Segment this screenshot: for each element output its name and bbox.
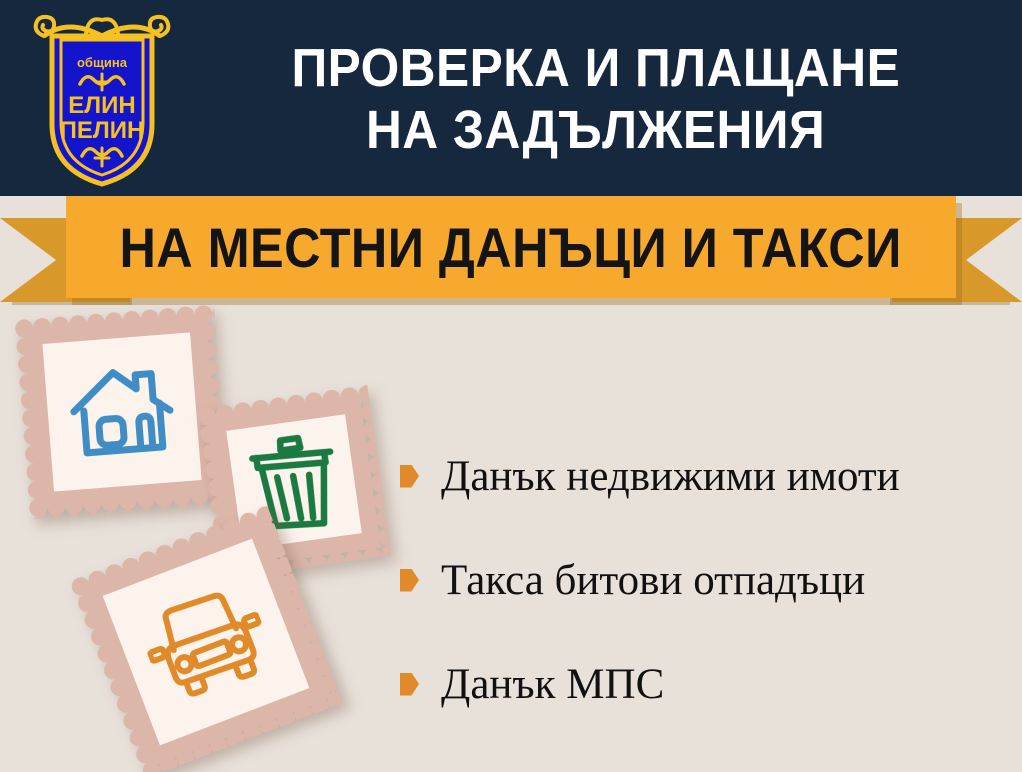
page-title: ПРОВЕРКА И ПЛАЩАНЕ НА ЗАДЪЛЖЕНИЯ [186, 20, 1006, 180]
stamp-face [42, 332, 201, 491]
car-front-icon [132, 572, 279, 711]
house-icon [64, 358, 180, 466]
bullet-arrow-icon [400, 465, 419, 488]
logo-line1: ЕЛИН [68, 92, 135, 119]
tax-type-list: Данък недвижими имоти Такса битови отпад… [400, 424, 1010, 736]
bullet-arrow-icon [400, 673, 419, 696]
list-item: Данък МПС [400, 632, 1010, 736]
list-item-label: Такса битови отпадъци [441, 559, 865, 602]
logo-small-text: община [77, 55, 128, 70]
poster-canvas: община ЕЛИН ПЕЛИН ПРОВЕРКА И ПЛАЩАНЕ НА … [0, 0, 1022, 772]
title-line-2: НА ЗАДЪЛЖЕНИЯ [366, 100, 825, 162]
ribbon-main-panel: НА МЕСТНИ ДАНЪЦИ И ТАКСИ [66, 196, 956, 298]
list-item: Такса битови отпадъци [400, 528, 1010, 632]
logo-line2: ПЕЛИН [60, 117, 145, 144]
list-item-label: Данък недвижими имоти [441, 455, 900, 498]
municipality-logo: община ЕЛИН ПЕЛИН [28, 8, 176, 188]
ribbon-text: НА МЕСТНИ ДАНЪЦИ И ТАКСИ [120, 215, 902, 280]
bullet-arrow-icon [400, 569, 419, 592]
title-line-1: ПРОВЕРКА И ПЛАЩАНЕ [292, 38, 901, 100]
coat-of-arms-icon: община ЕЛИН ПЕЛИН [28, 8, 176, 188]
list-item: Данък недвижими имоти [400, 424, 1010, 528]
list-item-label: Данък МПС [441, 663, 664, 706]
subtitle-ribbon: НА МЕСТНИ ДАНЪЦИ И ТАКСИ [0, 196, 1022, 308]
